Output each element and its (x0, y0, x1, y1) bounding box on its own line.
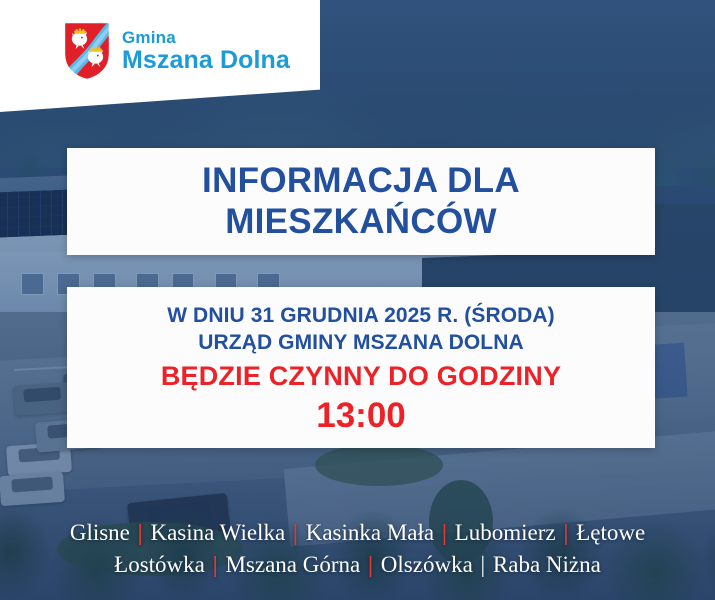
village-separator: | (360, 552, 381, 577)
village-name: Lubomierz (455, 520, 556, 545)
logo-municipality-name: Mszana Dolna (122, 48, 290, 73)
village-name: Kasina Wielka (150, 520, 285, 545)
village-name: Raba Niżna (493, 552, 601, 577)
village-list-row-1: Glisne | Kasina Wielka | Kasinka Mała | … (0, 517, 715, 550)
village-separator: | (556, 520, 577, 545)
announcement-office-line: URZĄD GMINY MSZANA DOLNA (198, 329, 524, 356)
page-title-line-1: INFORMACJA DLA (202, 161, 520, 202)
village-name: Łętowe (576, 520, 645, 545)
village-name: Łostówka (114, 552, 205, 577)
announcement-closing-time: 13:00 (316, 395, 406, 437)
logo-gmina-label: Gmina (122, 29, 290, 46)
logo-group[interactable]: Gmina Mszana Dolna (62, 20, 290, 82)
announcement-panel: W DNIU 31 GRUDNIA 2025 R. (ŚRODA) URZĄD … (67, 287, 655, 448)
title-panel: INFORMACJA DLA MIESZKAŃCÓW (67, 148, 655, 255)
village-separator: | (130, 520, 151, 545)
village-name: Olszówka (381, 552, 473, 577)
village-separator: | (285, 520, 306, 545)
village-list-footer: Glisne | Kasina Wielka | Kasinka Mała | … (0, 517, 715, 582)
village-name: Glisne (70, 520, 130, 545)
announcement-hours-line: BĘDZIE CZYNNY DO GODZINY (161, 359, 561, 393)
village-list-row-2: Łostówka | Mszana Górna | Olszówka | Rab… (0, 549, 715, 582)
logo-wordmark: Gmina Mszana Dolna (122, 29, 290, 73)
village-separator: | (434, 520, 455, 545)
announcement-date-line: W DNIU 31 GRUDNIA 2025 R. (ŚRODA) (167, 302, 555, 329)
page-title-line-2: MIESZKAŃCÓW (225, 202, 497, 243)
village-separator: | (205, 552, 226, 577)
poster-canvas: Gmina Mszana Dolna INFORMACJA DLA MIESZK… (0, 0, 715, 600)
village-name: Kasinka Mała (306, 520, 434, 545)
village-name: Mszana Górna (225, 552, 360, 577)
mszana-dolna-coat-of-arms-icon (62, 20, 112, 82)
village-separator: | (473, 552, 493, 577)
